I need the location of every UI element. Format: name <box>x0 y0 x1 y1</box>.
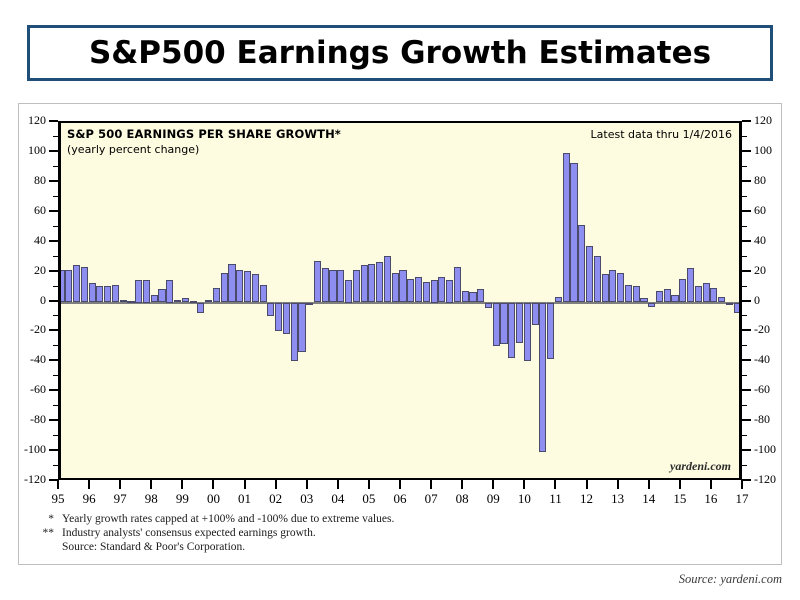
x-axis-label: 06 <box>386 491 414 507</box>
x-tick <box>586 480 588 489</box>
chart-bar <box>158 289 165 302</box>
chart-bar <box>462 291 469 303</box>
x-tick <box>617 480 619 489</box>
x-tick <box>399 480 401 489</box>
chart-bar <box>260 285 267 303</box>
chart-bar <box>151 295 158 302</box>
footnote-row: * Yearly growth rates capped at +100% an… <box>30 512 550 526</box>
chart-bar <box>570 163 577 302</box>
x-tick <box>119 480 121 489</box>
y-axis-label: -60 <box>754 382 788 397</box>
y-axis-label: -120 <box>16 472 46 487</box>
chart-bar <box>337 270 344 303</box>
chart-bar <box>726 303 733 306</box>
y-tick-minor-right <box>742 136 747 137</box>
y-axis-label: 40 <box>16 233 46 248</box>
x-tick <box>88 480 90 489</box>
x-tick <box>710 480 712 489</box>
chart-bar <box>228 264 235 303</box>
y-tick-right <box>742 479 751 481</box>
chart-bar <box>314 261 321 303</box>
chart-bar <box>431 280 438 302</box>
y-axis-label: 0 <box>754 293 788 308</box>
y-tick-right <box>742 389 751 391</box>
slide-root: S&P500 Earnings Growth Estimates 1201201… <box>0 0 800 600</box>
y-tick-right <box>742 449 751 451</box>
y-axis-label: -20 <box>754 322 788 337</box>
chart-bar <box>298 303 305 352</box>
footnote-source: Source: Standard & Poor's Corporation. <box>62 540 550 554</box>
x-axis-label: 98 <box>137 491 165 507</box>
latest-data-label: Latest data thru 1/4/2016 <box>591 128 732 141</box>
y-axis-label: -40 <box>754 352 788 367</box>
chart-bar <box>143 280 150 302</box>
x-axis-label: 00 <box>199 491 227 507</box>
y-tick-left <box>49 419 58 421</box>
footnote-mark <box>30 540 62 554</box>
chart-bar <box>361 265 368 302</box>
chart-bar <box>438 277 445 302</box>
x-tick <box>337 480 339 489</box>
chart-bar <box>135 280 142 302</box>
chart-bar <box>96 286 103 302</box>
x-tick <box>461 480 463 489</box>
chart-header-line1: S&P 500 EARNINGS PER SHARE GROWTH* <box>67 127 341 141</box>
chart-bar <box>166 280 173 302</box>
x-axis-label: 02 <box>262 491 290 507</box>
y-tick-left <box>49 150 58 152</box>
page-title: S&P500 Earnings Growth Estimates <box>30 28 770 78</box>
y-tick-left <box>49 449 58 451</box>
y-tick-left <box>49 359 58 361</box>
chart-bar <box>275 303 282 331</box>
x-axis-label: 07 <box>417 491 445 507</box>
y-axis-label: -20 <box>16 322 46 337</box>
chart-bar <box>446 280 453 302</box>
x-axis-label: 99 <box>168 491 196 507</box>
chart-bar <box>65 270 72 303</box>
chart-bar <box>392 273 399 303</box>
chart-bar <box>710 288 717 303</box>
chart-bar <box>578 225 585 303</box>
chart-bar <box>563 153 570 303</box>
chart-bar <box>493 303 500 346</box>
chart-bar <box>182 298 189 302</box>
chart-bar <box>734 303 739 313</box>
y-tick-right <box>742 150 751 152</box>
chart-bar <box>61 270 65 303</box>
x-axis-label: 12 <box>573 491 601 507</box>
y-tick-minor-right <box>742 345 747 346</box>
x-axis-label: 15 <box>666 491 694 507</box>
chart-bar <box>267 303 274 316</box>
y-axis-label: 20 <box>16 263 46 278</box>
chart-bar <box>609 270 616 303</box>
x-axis-label: 17 <box>728 491 756 507</box>
x-tick <box>430 480 432 489</box>
chart-bar <box>174 300 181 303</box>
chart-bar <box>283 303 290 334</box>
chart-bar <box>703 283 710 302</box>
y-tick-left <box>49 210 58 212</box>
y-axis-label: -100 <box>754 442 788 457</box>
chart-bar <box>500 303 507 345</box>
y-axis-label: 20 <box>754 263 788 278</box>
footnote-text: Yearly growth rates capped at +100% and … <box>62 512 550 526</box>
chart-bar <box>329 270 336 303</box>
y-axis-label: 100 <box>754 143 788 158</box>
chart-bar <box>376 262 383 302</box>
chart-bar <box>718 297 725 303</box>
y-axis-label: -60 <box>16 382 46 397</box>
y-tick-left <box>49 329 58 331</box>
x-tick <box>648 480 650 489</box>
x-tick <box>181 480 183 489</box>
chart-bar <box>368 264 375 303</box>
title-banner: S&P500 Earnings Growth Estimates <box>27 25 773 81</box>
y-tick-minor-right <box>742 166 747 167</box>
x-tick <box>741 480 743 489</box>
chart-bar <box>252 274 259 302</box>
chart-bar <box>322 268 329 302</box>
y-tick-left <box>49 300 58 302</box>
chart-bar <box>104 286 111 302</box>
yardeni-watermark: yardeni.com <box>670 459 731 474</box>
y-axis-label: -80 <box>16 412 46 427</box>
y-axis-label: 120 <box>754 113 788 128</box>
footnote-mark: * <box>30 512 62 526</box>
chart-bar <box>477 289 484 302</box>
x-tick <box>306 480 308 489</box>
chart-bar <box>120 300 127 303</box>
chart-bar <box>617 273 624 303</box>
chart-bar <box>555 297 562 303</box>
chart-bar <box>213 288 220 303</box>
chart-bar <box>524 303 531 361</box>
y-tick-left <box>49 240 58 242</box>
footnote-text: Industry analysts' consensus expected ea… <box>62 526 550 540</box>
chart-bar <box>625 285 632 303</box>
x-axis-label: 95 <box>44 491 72 507</box>
x-axis-label: 97 <box>106 491 134 507</box>
chart-bar <box>640 298 647 302</box>
chart-bar <box>236 270 243 303</box>
y-axis-label: -40 <box>16 352 46 367</box>
y-axis-label: 80 <box>16 173 46 188</box>
y-tick-minor-right <box>742 375 747 376</box>
y-axis-label: 60 <box>16 203 46 218</box>
chart-bar <box>664 289 671 302</box>
chart-bar <box>190 301 197 303</box>
y-tick-right <box>742 300 751 302</box>
chart-bar <box>586 246 593 303</box>
y-tick-right <box>742 270 751 272</box>
chart-bar <box>508 303 515 358</box>
y-tick-right <box>742 120 751 122</box>
chart-bar <box>291 303 298 361</box>
chart-bar <box>112 285 119 303</box>
x-tick <box>492 480 494 489</box>
y-tick-minor-right <box>742 315 747 316</box>
chart-bar <box>469 292 476 302</box>
x-axis-label: 05 <box>355 491 383 507</box>
y-tick-left <box>49 120 58 122</box>
chart-bar <box>671 295 678 302</box>
y-axis-label: -100 <box>16 442 46 457</box>
y-tick-minor-right <box>742 226 747 227</box>
x-tick <box>275 480 277 489</box>
y-axis-label: 0 <box>16 293 46 308</box>
y-tick-minor-right <box>742 196 747 197</box>
chart-bar <box>89 283 96 302</box>
chart-bar <box>415 277 422 302</box>
footnote-mark: ** <box>30 526 62 540</box>
x-axis-label: 01 <box>231 491 259 507</box>
chart-bar <box>602 274 609 302</box>
footnotes: * Yearly growth rates capped at +100% an… <box>30 512 550 554</box>
chart-bar <box>197 303 204 313</box>
x-axis-label: 03 <box>293 491 321 507</box>
y-axis-label: 100 <box>16 143 46 158</box>
chart-bar <box>633 286 640 302</box>
chart-bar <box>679 279 686 303</box>
chart-bar <box>384 256 391 302</box>
x-tick <box>523 480 525 489</box>
chart-bar <box>205 300 212 303</box>
y-axis-label: 60 <box>754 203 788 218</box>
chart-bar <box>485 303 492 309</box>
footnote-row: Source: Standard & Poor's Corporation. <box>30 540 550 554</box>
x-tick <box>57 480 59 489</box>
x-tick <box>150 480 152 489</box>
chart-bar <box>516 303 523 343</box>
x-axis-label: 96 <box>75 491 103 507</box>
y-tick-right <box>742 419 751 421</box>
y-axis-label: 40 <box>754 233 788 248</box>
chart-header-line2: (yearly percent change) <box>67 143 199 156</box>
x-axis-label: 09 <box>479 491 507 507</box>
chart-bar <box>127 301 134 303</box>
y-axis-label: 80 <box>754 173 788 188</box>
chart-bar <box>244 271 251 302</box>
y-tick-left <box>49 389 58 391</box>
y-axis-label: 120 <box>16 113 46 128</box>
chart-bar <box>539 303 546 453</box>
chart-bar <box>306 303 313 305</box>
y-tick-left <box>49 180 58 182</box>
y-tick-right <box>742 210 751 212</box>
y-tick-right <box>742 359 751 361</box>
chart-bar <box>454 267 461 303</box>
x-axis-label: 11 <box>541 491 569 507</box>
x-tick <box>244 480 246 489</box>
y-tick-right <box>742 240 751 242</box>
chart-bar <box>399 270 406 303</box>
y-tick-right <box>742 180 751 182</box>
x-tick <box>212 480 214 489</box>
x-axis-label: 08 <box>448 491 476 507</box>
chart-bar <box>532 303 539 325</box>
y-tick-minor-right <box>742 435 747 436</box>
y-tick-left <box>49 270 58 272</box>
chart-bar <box>81 267 88 303</box>
chart-bar <box>73 265 80 302</box>
y-tick-minor-right <box>742 286 747 287</box>
chart-bar <box>353 270 360 303</box>
chart-bar <box>594 256 601 302</box>
chart-plot-area: Q4 S&P 500 EARNINGS PER SHARE GROWTH* (y… <box>58 121 742 480</box>
x-tick <box>368 480 370 489</box>
x-axis-label: 10 <box>510 491 538 507</box>
chart-bar <box>423 282 430 303</box>
x-axis-label: 14 <box>635 491 663 507</box>
x-axis-label: 04 <box>324 491 352 507</box>
chart-bar <box>648 303 655 307</box>
y-axis-label: -80 <box>754 412 788 427</box>
x-axis-label: 13 <box>604 491 632 507</box>
chart-bar <box>656 291 663 303</box>
chart-bar <box>407 279 414 303</box>
chart-bar <box>221 273 228 303</box>
chart-bar <box>695 286 702 302</box>
y-axis-label: -120 <box>754 472 788 487</box>
plot-inner: Q4 <box>61 123 739 478</box>
source-credit: Source: yardeni.com <box>679 572 782 587</box>
y-tick-minor-right <box>742 256 747 257</box>
chart-bar <box>345 280 352 302</box>
x-axis-label: 16 <box>697 491 725 507</box>
x-tick <box>679 480 681 489</box>
chart-bar <box>547 303 554 360</box>
y-tick-minor-right <box>742 465 747 466</box>
y-tick-minor-right <box>742 405 747 406</box>
x-tick <box>554 480 556 489</box>
y-tick-right <box>742 329 751 331</box>
chart-bar <box>687 268 694 302</box>
footnote-row: ** Industry analysts' consensus expected… <box>30 526 550 540</box>
